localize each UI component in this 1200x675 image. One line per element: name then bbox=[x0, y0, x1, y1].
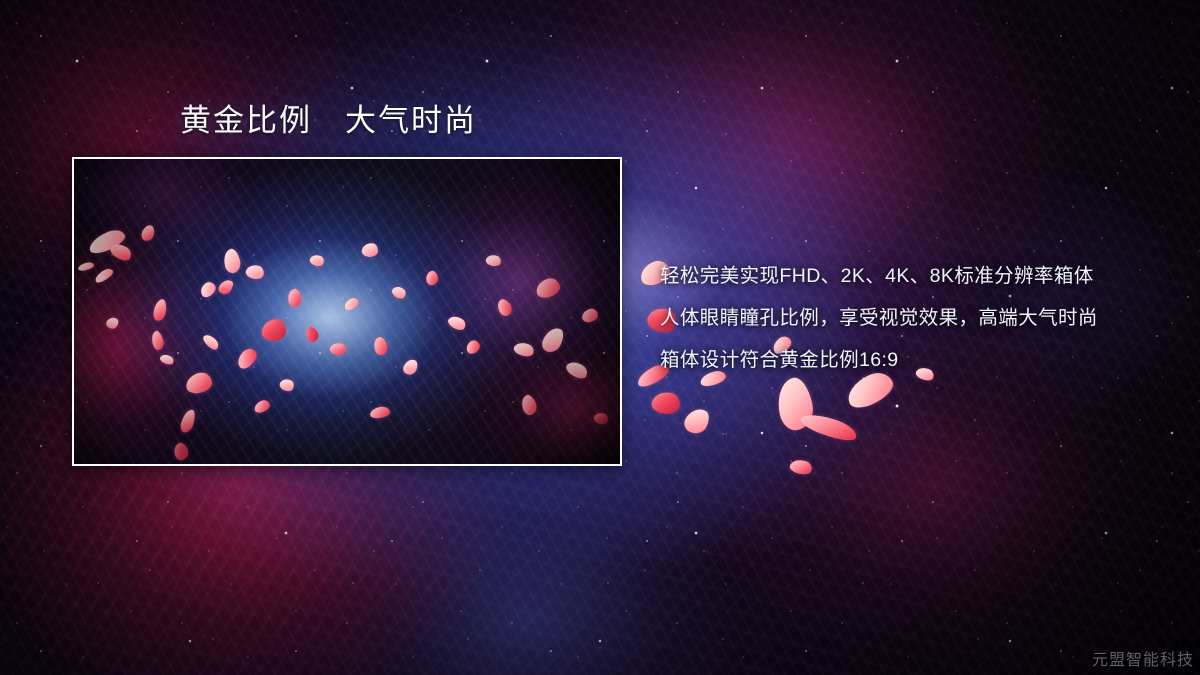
slide-canvas: 黄金比例 大气时尚 bbox=[0, 0, 1200, 675]
body-line-3: 箱体设计符合黄金比例16:9 bbox=[660, 339, 1180, 381]
body-line-2: 人体眼睛瞳孔比例，享受视觉效果，高端大气时尚 bbox=[660, 297, 1180, 339]
petal bbox=[681, 404, 713, 438]
petal bbox=[788, 457, 813, 477]
petal bbox=[799, 409, 860, 446]
image-frame-content bbox=[74, 159, 620, 464]
body-copy-block: 轻松完美实现FHD、2K、4K、8K标准分辨率箱体 人体眼睛瞳孔比例，享受视觉效… bbox=[660, 255, 1180, 381]
frame-vignette bbox=[74, 159, 620, 464]
watermark: 元盟智能科技 bbox=[1092, 646, 1194, 670]
body-line-1: 轻松完美实现FHD、2K、4K、8K标准分辨率箱体 bbox=[660, 255, 1180, 297]
page-title: 黄金比例 大气时尚 bbox=[180, 102, 477, 140]
image-frame bbox=[72, 157, 622, 466]
petal bbox=[773, 375, 817, 433]
petal bbox=[650, 389, 682, 416]
